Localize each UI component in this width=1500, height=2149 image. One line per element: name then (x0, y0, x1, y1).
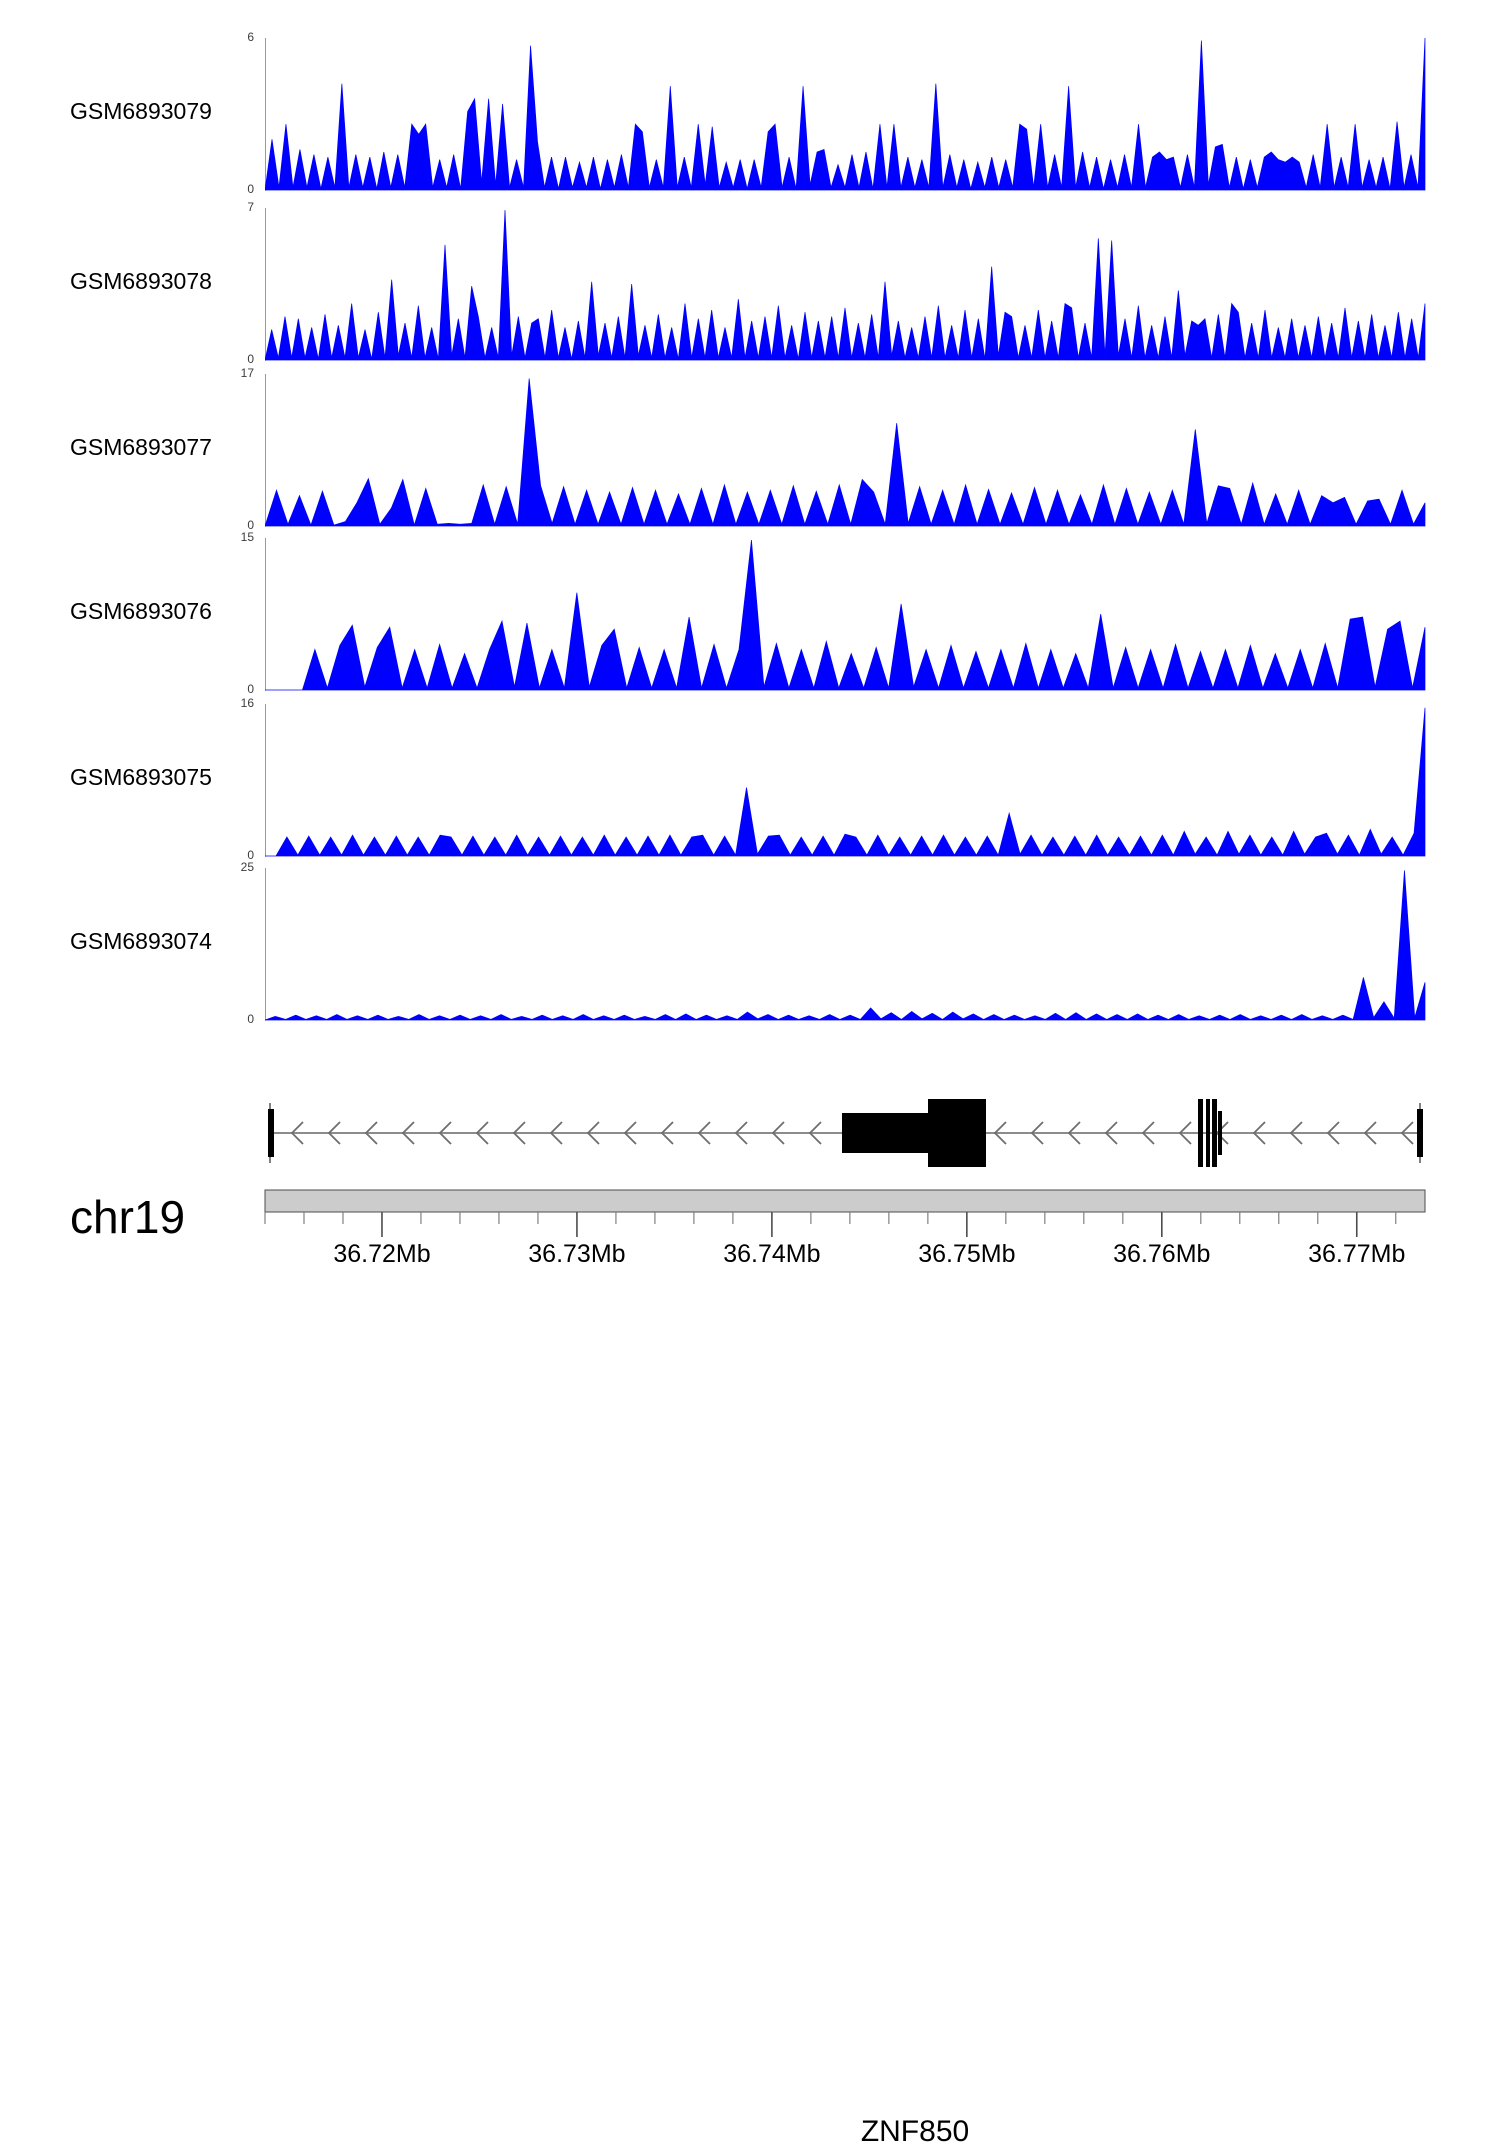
track-sample-label: GSM6893075 (70, 764, 245, 791)
coverage-track[interactable]: GSM6893074250 (0, 868, 1500, 1020)
ruler-tick-label: 36.74Mb (723, 1240, 820, 1269)
genome-browser: GSM689307960GSM689307870GSM6893077170GSM… (0, 0, 1500, 1320)
coverage-plot-svg (265, 704, 1445, 860)
y-axis-max-label: 6 (224, 30, 254, 44)
y-axis-max-label: 7 (224, 200, 254, 214)
track-plot-area[interactable] (265, 38, 1445, 194)
gene-annotation-track[interactable]: ZNF850 (0, 1055, 1500, 1190)
exon-box[interactable] (1206, 1099, 1210, 1167)
coverage-plot-svg (265, 868, 1445, 1024)
coverage-area (265, 210, 1425, 360)
exon-box[interactable] (268, 1109, 274, 1157)
coverage-plot-svg (265, 538, 1445, 694)
coverage-area (265, 870, 1425, 1020)
gene-model-svg (0, 1055, 1500, 1190)
coverage-area (265, 38, 1425, 190)
chromosome-ruler[interactable]: chr19 36.72Mb36.73Mb36.74Mb36.75Mb36.76M… (0, 1185, 1500, 1305)
coverage-track[interactable]: GSM6893076150 (0, 538, 1500, 690)
coverage-area (265, 378, 1425, 526)
y-axis-max-label: 15 (224, 530, 254, 544)
exon-box[interactable] (1212, 1099, 1217, 1167)
ruler-tick-label: 36.73Mb (528, 1240, 625, 1269)
ruler-tick-label: 36.77Mb (1308, 1240, 1405, 1269)
y-axis-max-label: 25 (224, 860, 254, 874)
track-plot-area[interactable] (265, 704, 1445, 860)
track-plot-area[interactable] (265, 538, 1445, 694)
y-axis-min-label: 0 (224, 682, 254, 696)
ruler-tick-label: 36.76Mb (1113, 1240, 1210, 1269)
gene-name-label: ZNF850 (845, 2115, 985, 2149)
exon-box[interactable] (1417, 1109, 1423, 1157)
y-axis-max-label: 16 (224, 696, 254, 710)
track-plot-area[interactable] (265, 868, 1445, 1024)
ruler-svg (0, 1185, 1500, 1245)
coverage-plot-svg (265, 374, 1445, 530)
y-axis-max-label: 17 (224, 366, 254, 380)
coverage-plot-svg (265, 38, 1445, 194)
track-sample-label: GSM6893077 (70, 434, 245, 461)
track-plot-area[interactable] (265, 374, 1445, 530)
track-sample-label: GSM6893078 (70, 268, 245, 295)
coverage-track[interactable]: GSM6893075160 (0, 704, 1500, 856)
exon-box[interactable] (928, 1099, 986, 1167)
track-sample-label: GSM6893074 (70, 928, 245, 955)
ruler-tick-label: 36.72Mb (333, 1240, 430, 1269)
coverage-track[interactable]: GSM689307960 (0, 38, 1500, 190)
exon-box[interactable] (842, 1113, 928, 1153)
coverage-area (265, 540, 1425, 690)
exon-box[interactable] (1218, 1111, 1222, 1155)
coverage-area (265, 708, 1425, 856)
y-axis-min-label: 0 (224, 1012, 254, 1026)
ideogram-band[interactable] (265, 1190, 1425, 1212)
exon-box[interactable] (1198, 1099, 1203, 1167)
coverage-track[interactable]: GSM6893077170 (0, 374, 1500, 526)
track-sample-label: GSM6893079 (70, 98, 245, 125)
coverage-plot-svg (265, 208, 1445, 364)
track-plot-area[interactable] (265, 208, 1445, 364)
track-sample-label: GSM6893076 (70, 598, 245, 625)
y-axis-min-label: 0 (224, 182, 254, 196)
ruler-tick-label: 36.75Mb (918, 1240, 1015, 1269)
y-axis-min-label: 0 (224, 352, 254, 366)
coverage-track[interactable]: GSM689307870 (0, 208, 1500, 360)
